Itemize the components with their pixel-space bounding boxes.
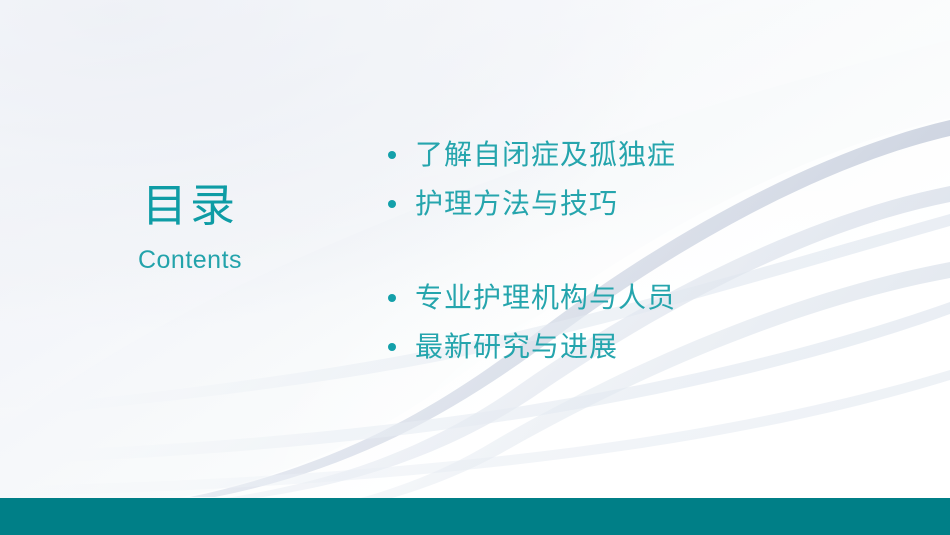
list-item[interactable]: 专业护理机构与人员 <box>388 273 908 322</box>
toc-item-label: 最新研究与进展 <box>415 333 618 361</box>
presentation-slide: 目录 Contents 了解自闭症及孤独症 护理方法与技巧 专业护理机构与人员 … <box>0 0 950 535</box>
toc-item-label: 了解自闭症及孤独症 <box>415 141 676 169</box>
page-title: 目录 <box>0 183 380 228</box>
toc-item-label: 护理方法与技巧 <box>415 190 618 218</box>
slide-footer-bar <box>0 498 950 535</box>
slide-title-block: 目录 Contents <box>0 183 380 273</box>
toc-group-one: 了解自闭症及孤独症 护理方法与技巧 <box>388 130 908 228</box>
table-of-contents: 了解自闭症及孤独症 护理方法与技巧 专业护理机构与人员 最新研究与进展 <box>388 130 908 371</box>
list-item[interactable]: 最新研究与进展 <box>388 322 908 371</box>
bullet-dot-icon <box>388 200 396 208</box>
bullet-dot-icon <box>388 343 396 351</box>
list-item[interactable]: 了解自闭症及孤独症 <box>388 130 908 179</box>
toc-group-two: 专业护理机构与人员 最新研究与进展 <box>388 273 908 371</box>
bullet-dot-icon <box>388 294 396 302</box>
bullet-dot-icon <box>388 151 396 159</box>
page-subtitle: Contents <box>0 248 380 273</box>
toc-item-label: 专业护理机构与人员 <box>415 284 676 312</box>
list-item[interactable]: 护理方法与技巧 <box>388 179 908 228</box>
